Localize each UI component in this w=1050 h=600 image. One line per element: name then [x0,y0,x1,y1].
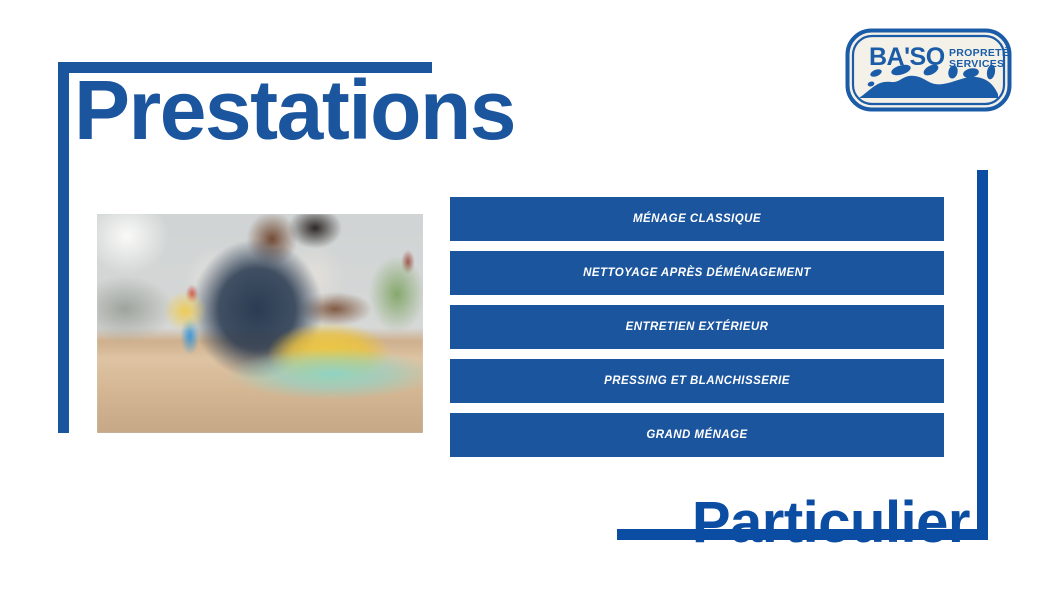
page-subtitle: Particulier [692,494,970,552]
service-button-label: NETTOYAGE APRÈS DÉMÉNAGEMENT [583,267,811,279]
service-button-grand-menage[interactable]: GRAND MÉNAGE [450,413,944,457]
page-title: Prestations [74,66,515,154]
service-button-label: PRESSING ET BLANCHISSERIE [604,375,790,387]
service-button-label: MÉNAGE CLASSIQUE [633,213,761,225]
hero-photo-image [97,214,423,433]
logo-droplet [948,83,954,87]
service-button-menage-classique[interactable]: MÉNAGE CLASSIQUE [450,197,944,241]
baso-logo: BA'SO PROPRETÉ SERVICES [845,28,1012,112]
frame-right-bar [977,170,988,540]
service-button-entretien-exterieur[interactable]: ENTRETIEN EXTÉRIEUR [450,305,944,349]
services-list: MÉNAGE CLASSIQUE NETTOYAGE APRÈS DÉMÉNAG… [450,197,944,457]
logo-tagline-line2: SERVICES [949,58,1004,70]
logo-wordmark: BA'SO [869,43,945,71]
hero-photo [97,214,423,433]
service-button-label: GRAND MÉNAGE [646,429,747,441]
service-button-nettoyage-apres-demenagement[interactable]: NETTOYAGE APRÈS DÉMÉNAGEMENT [450,251,944,295]
service-button-label: ENTRETIEN EXTÉRIEUR [626,321,769,333]
frame-left-bar [58,62,69,433]
slide-root: Prestations MÉNAGE CLASSIQUE NETTOYAGE A… [0,0,1050,600]
service-button-pressing-et-blanchisserie[interactable]: PRESSING ET BLANCHISSERIE [450,359,944,403]
